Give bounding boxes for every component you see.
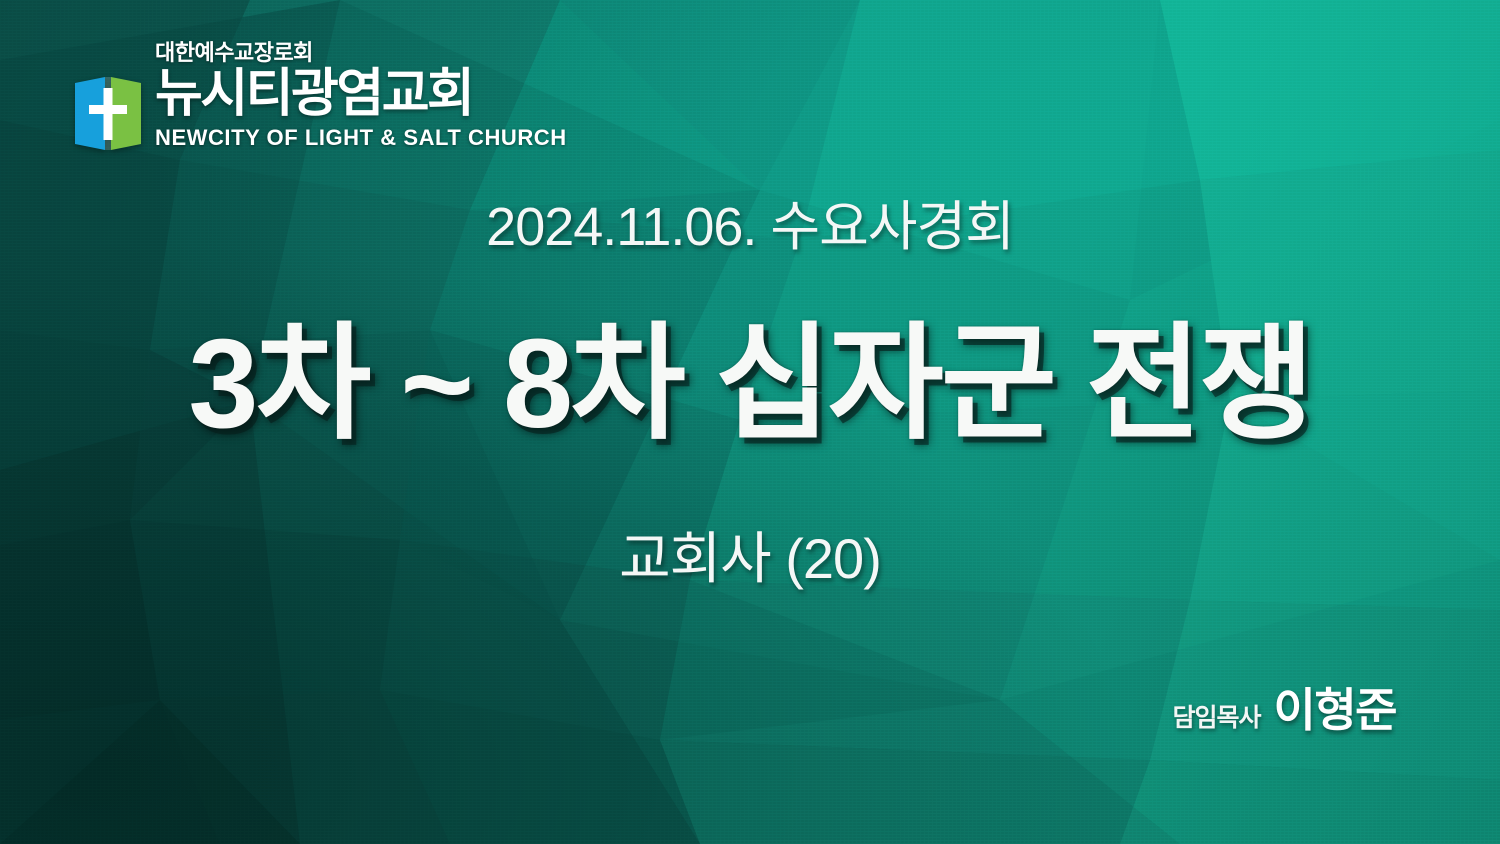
logo-denomination: 대한예수교장로회	[155, 42, 313, 64]
slide-text-stack: 2024.11.06. 수요사경회 3차 ~ 8차 십자군 전쟁 교회사 (20…	[0, 196, 1500, 595]
logo-text-block: 대한예수교장로회 뉴시티광염교회 NEWCITY OF LIGHT & SALT…	[155, 42, 567, 149]
speaker-name: 이형준	[1274, 674, 1396, 740]
event-date-and-service: 2024.11.06. 수요사경회	[0, 196, 1500, 258]
logo-church-name-en: NEWCITY OF LIGHT & SALT CHURCH	[155, 127, 567, 149]
speaker-credit: 담임목사 이형준	[1173, 674, 1396, 740]
open-book-cross-icon	[72, 74, 144, 158]
sermon-title-slide: 대한예수교장로회 뉴시티광염교회 NEWCITY OF LIGHT & SALT…	[0, 0, 1500, 844]
sermon-main-title: 3차 ~ 8차 십자군 전쟁	[0, 316, 1500, 452]
church-logo-lockup: 대한예수교장로회 뉴시티광염교회 NEWCITY OF LIGHT & SALT…	[72, 42, 567, 158]
logo-church-name-ko: 뉴시티광염교회	[155, 68, 472, 121]
speaker-role-label: 담임목사	[1173, 698, 1261, 734]
sermon-series-label: 교회사 (20)	[0, 514, 1500, 595]
